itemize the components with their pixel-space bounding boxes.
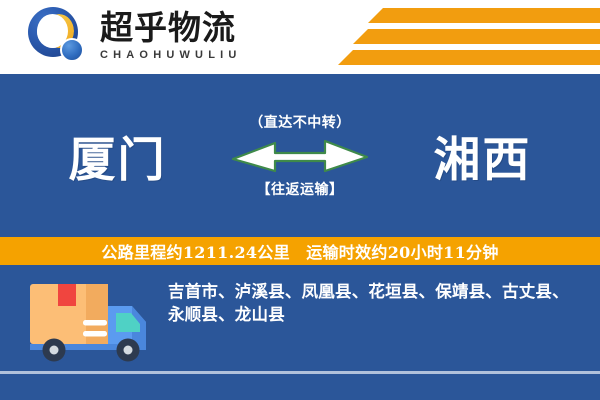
double-headed-arrow-icon [231, 135, 369, 175]
bottom-divider [0, 371, 600, 374]
circle-crescent-logo-icon [26, 4, 92, 68]
route-row: 厦门 （直达不中转） 【往返运输】 湘西 [0, 74, 600, 236]
logistics-route-banner: 超乎物流 CHAOHUWULIU 厦门 （直达不中转） 【往返运输】 湘西 [0, 0, 600, 400]
route-panel: 厦门 （直达不中转） 【往返运输】 湘西 [0, 74, 600, 236]
coverage-area-list: 吉首市、泸溪县、凤凰县、花垣县、保靖县、古丈县、永顺县、龙山县 [168, 280, 576, 327]
destination-city: 湘西 [385, 121, 580, 190]
coverage-panel: 吉首市、泸溪县、凤凰县、花垣县、保靖县、古丈县、永顺县、龙山县 [0, 266, 600, 400]
origin-city: 厦门 [20, 121, 215, 190]
brand-logo-block: 超乎物流 CHAOHUWULIU [26, 4, 242, 68]
banner-header: 超乎物流 CHAOHUWULIU [0, 0, 600, 74]
brand-name-cn: 超乎物流 [100, 11, 242, 46]
route-arrow-group: （直达不中转） 【往返运输】 [215, 95, 385, 215]
brand-text-block: 超乎物流 CHAOHUWULIU [100, 11, 242, 61]
brand-name-en: CHAOHUWULIU [100, 49, 242, 61]
arrow-bottom-label: 【往返运输】 [257, 179, 344, 199]
logo-small-dot [60, 38, 84, 62]
delivery-truck-icon [28, 280, 158, 362]
arrow-top-label: （直达不中转） [249, 112, 351, 132]
orange-speed-stripes-icon [335, 8, 600, 66]
distance-duration-text: 公路里程约1211.24公里 运输时效约20小时11分钟 [101, 239, 498, 263]
distance-duration-bar: 公路里程约1211.24公里 运输时效约20小时11分钟 [0, 237, 600, 265]
info-strip-wrapper: 公路里程约1211.24公里 运输时效约20小时11分钟 [0, 236, 600, 266]
